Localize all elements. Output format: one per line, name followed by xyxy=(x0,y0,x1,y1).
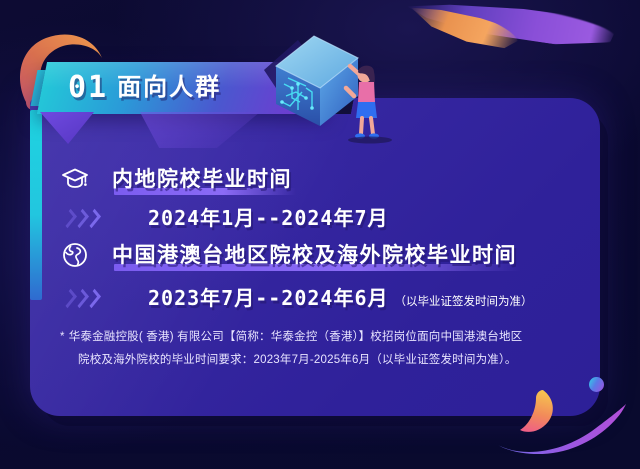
chevron-right-icon xyxy=(85,289,101,309)
section-row-mainland-heading: 内地院校毕业时间 xyxy=(60,164,292,194)
chevron-right-icon-group xyxy=(64,291,98,306)
date-note-overseas: （以毕业证签发时间为准） xyxy=(395,293,533,309)
chevron-right-icon-group xyxy=(64,211,98,226)
banner-title: 面向人群 xyxy=(117,76,221,100)
bottom-flourish xyxy=(470,372,638,468)
footnote-line-2: 院校及海外院校的毕业时间要求：2023年7月-2025年6月（以毕业证签发时间为… xyxy=(78,354,517,366)
card-left-edge xyxy=(30,110,42,300)
footnote-star: * xyxy=(60,331,65,343)
section-row-mainland-date: 2024年1月--2024年7月 xyxy=(64,208,395,228)
person-holding-cube-illustration xyxy=(262,22,392,144)
date-overseas: 2023年7月--2024年6月 xyxy=(148,288,389,308)
footnote: *华泰金融控股( 香港) 有限公司【简称：华泰金控（香港）】校招岗位面向中国港澳… xyxy=(60,326,570,372)
graduation-cap-icon xyxy=(60,164,90,194)
heading-overseas-graduation: 中国港澳台地区院校及海外院校毕业时间 xyxy=(112,245,517,266)
date-mainland: 2024年1月--2024年7月 xyxy=(148,208,389,228)
section-row-overseas-date: 2023年7月--2024年6月 （以毕业证签发时间为准） xyxy=(64,288,533,309)
banner-number: 01 xyxy=(68,73,108,103)
globe-icon xyxy=(60,240,90,270)
chevron-right-icon xyxy=(85,208,101,228)
gradient-dot xyxy=(589,377,604,392)
footnote-line-1: 华泰金融控股( 香港) 有限公司【简称：华泰金控（香港）】校招岗位面向中国港澳台… xyxy=(69,331,523,343)
poster-canvas: 01 面向人群 xyxy=(0,0,640,469)
section-row-overseas-heading: 中国港澳台地区院校及海外院校毕业时间 xyxy=(60,240,517,270)
heading-mainland-graduation: 内地院校毕业时间 xyxy=(112,169,292,190)
